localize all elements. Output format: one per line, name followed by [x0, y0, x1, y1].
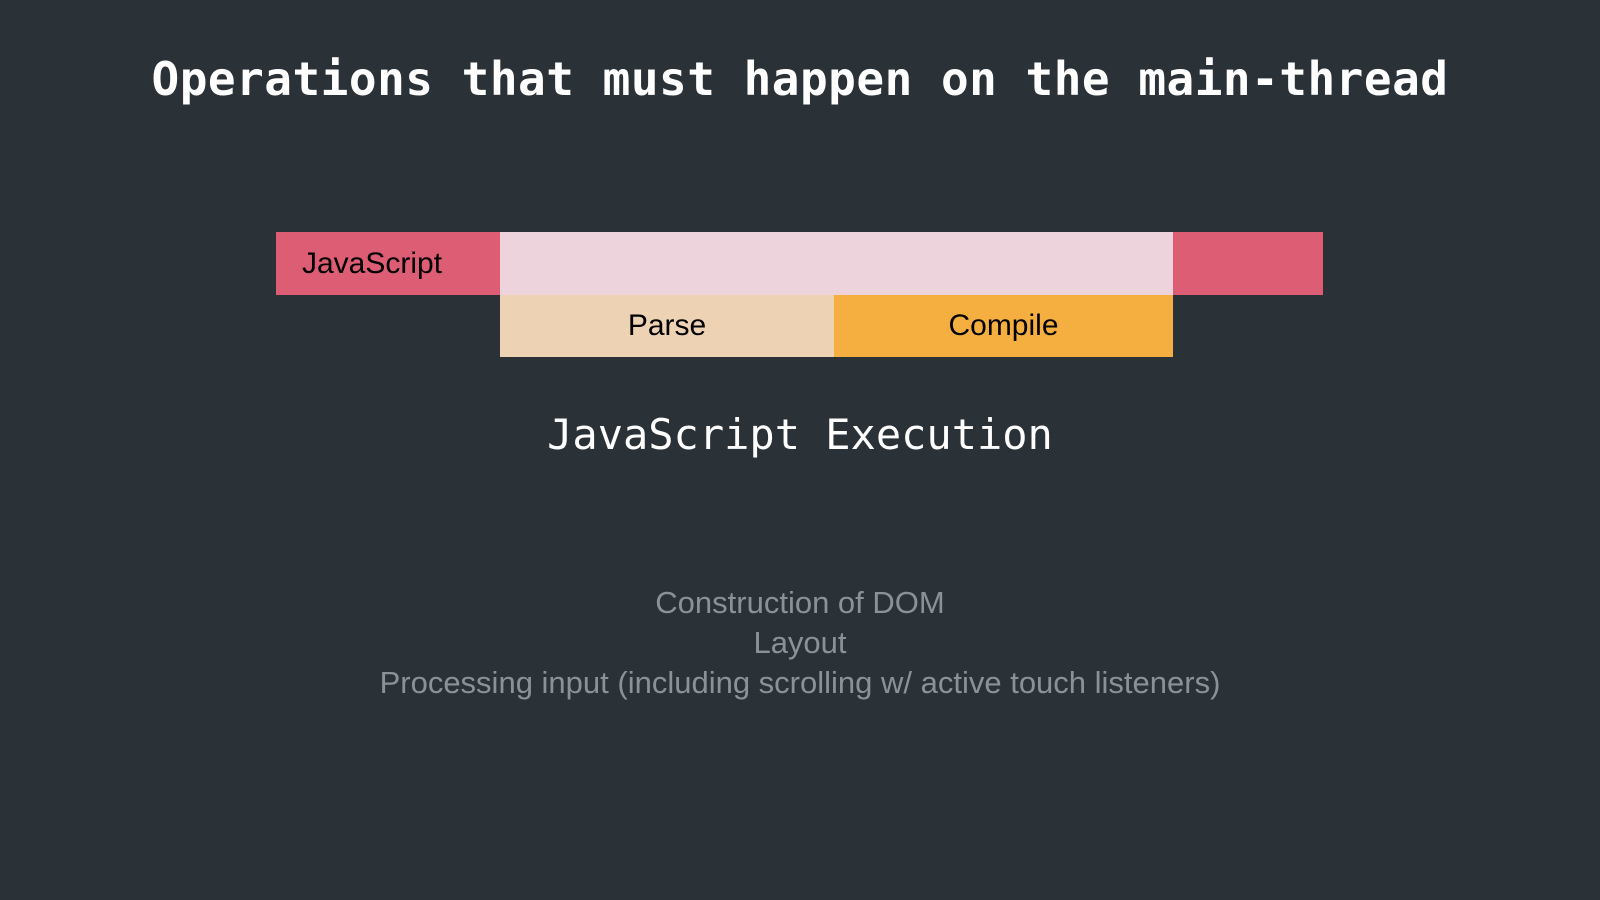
- phase-compile: Compile: [834, 295, 1173, 357]
- phase-bar-row: Parse Compile: [500, 295, 1173, 357]
- main-thread-timeline-diagram: JavaScript Parse Compile: [276, 232, 1323, 357]
- main-thread-notes-list: Construction of DOM Layout Processing in…: [0, 583, 1600, 703]
- page-title: Operations that must happen on the main-…: [0, 52, 1600, 106]
- execution-caption: JavaScript Execution: [0, 410, 1600, 459]
- phase-parse: Parse: [500, 295, 834, 357]
- note-line-processing-input: Processing input (including scrolling w/…: [0, 663, 1600, 703]
- note-line-construction-of-dom: Construction of DOM: [0, 583, 1600, 623]
- javascript-bar: JavaScript: [276, 232, 1323, 295]
- javascript-bar-label: JavaScript: [302, 232, 442, 295]
- slide-canvas: Operations that must happen on the main-…: [0, 0, 1600, 900]
- note-line-layout: Layout: [0, 623, 1600, 663]
- javascript-bar-inner-segment: [500, 232, 1173, 295]
